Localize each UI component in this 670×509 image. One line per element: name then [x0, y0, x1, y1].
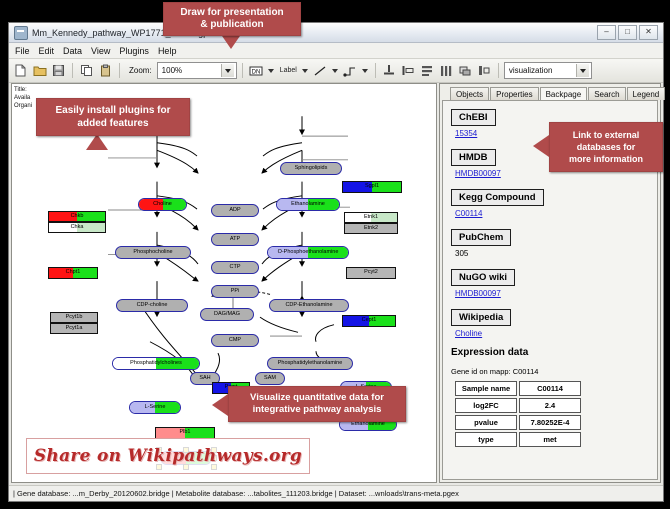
paste-icon[interactable] — [97, 62, 114, 79]
metabolite-node-phosphatidylcholine[interactable]: Phosphatidylcholines — [112, 357, 200, 370]
metabolite-node-sam[interactable]: SAM — [255, 372, 285, 385]
node-label: Choline — [153, 202, 172, 208]
maximize-button[interactable]: □ — [618, 25, 637, 40]
metabolite-node-adp[interactable]: ADP — [211, 204, 259, 217]
copy-icon[interactable] — [78, 62, 95, 79]
node-label: Chkb — [71, 214, 84, 220]
callout-plugins-line2: added features — [77, 117, 148, 130]
expression-table: Sample name C00114 log2FC 2.4 pvalue 7.8… — [453, 379, 583, 449]
callout-link: Link to external databases for more info… — [549, 122, 663, 172]
interaction-tool-icon[interactable] — [342, 62, 359, 79]
pathway-canvas[interactable]: Title: Availa Organi — [11, 83, 437, 483]
zoom-value: 100% — [160, 66, 182, 75]
metabolite-node-phosphatidylethanolamine[interactable]: Phosphatidylethanolamine — [267, 357, 353, 370]
node-label: CTP — [230, 265, 241, 271]
gene-node-pcyt1b[interactable]: Pcyt1b — [50, 312, 98, 323]
order-front-icon[interactable] — [476, 62, 493, 79]
gene-node-sgpl1[interactable]: Sgpl1 — [342, 181, 402, 193]
distribute-vertical-icon[interactable] — [419, 62, 436, 79]
toolbar: Zoom: 100% DN Label — [9, 59, 663, 83]
cell-key-log2fc: log2FC — [455, 398, 517, 413]
toolbar-separator-3 — [242, 63, 243, 78]
callout-link-line2: databases for — [577, 141, 636, 153]
node-label: CMP — [229, 338, 241, 344]
table-row: log2FC 2.4 — [455, 398, 581, 413]
toolbar-separator-4 — [375, 63, 376, 78]
application-window: Mm_Kennedy_pathway_WP1771_45176.gpml – □… — [8, 22, 664, 502]
callout-draw-line1: Draw for presentation — [180, 7, 283, 19]
node-label: Ethanolamine — [291, 202, 325, 208]
datanode-dropdown-icon[interactable] — [267, 63, 276, 79]
gene-node-etnk1[interactable]: Etnk1 — [344, 212, 398, 223]
toolbar-separator-1 — [72, 63, 73, 78]
db-name-kegg-compound: Kegg Compound — [451, 189, 544, 206]
callout-visualize-line2: integrative pathway analysis — [253, 404, 382, 416]
node-label: ATP — [230, 237, 240, 243]
callout-link-line1: Link to external — [573, 129, 640, 141]
screenshot-root: Mm_Kennedy_pathway_WP1771_45176.gpml – □… — [0, 0, 670, 509]
db-link-kegg-compound[interactable]: C00114 — [455, 209, 649, 218]
gene-node-etnk2[interactable]: Etnk2 — [344, 223, 398, 234]
expression-data-title: Expression data — [451, 347, 649, 358]
db-link-nugo-wiki[interactable]: HMDB00097 — [455, 289, 649, 298]
status-bar: | Gene database: ...m_Derby_20120602.bri… — [9, 485, 663, 501]
window-controls[interactable]: – □ ✕ — [597, 25, 660, 40]
db-name-hmdb: HMDB — [451, 149, 496, 166]
db-link-wikipedia[interactable]: Choline — [455, 329, 649, 338]
align-top-icon[interactable] — [381, 62, 398, 79]
tab-search[interactable]: Search — [588, 87, 625, 100]
metabolite-node-sphingolipids[interactable]: Sphingolipids — [280, 162, 342, 175]
new-file-icon[interactable] — [12, 62, 29, 79]
metabolite-node-ethanolamine[interactable]: Ethanolamine — [276, 198, 340, 211]
metabolite-node-choline_top[interactable]: Choline — [138, 198, 187, 211]
metabolite-node-cdpcholine[interactable]: CDP-choline — [116, 299, 188, 312]
cell-value-log2fc: 2.4 — [519, 398, 581, 413]
callout-plugins-arrow-icon — [86, 134, 108, 150]
gene-id-line: Gene id on mapp: C00114 — [451, 367, 649, 376]
callout-visualize-arrow-icon — [212, 394, 228, 416]
node-label: Etnk2 — [364, 226, 378, 232]
node-label: CDP-choline — [137, 303, 168, 309]
metabolite-node-cdpethanolamine[interactable]: CDP-Ethanolamine — [269, 299, 349, 312]
node-label: Cept1 — [362, 318, 377, 324]
menu-item-view[interactable]: View — [91, 46, 110, 56]
close-button[interactable]: ✕ — [639, 25, 658, 40]
order-back-icon[interactable] — [457, 62, 474, 79]
cell-key-pvalue: pvalue — [455, 415, 517, 430]
gene-node-cept1[interactable]: Cept1 — [342, 315, 396, 327]
node-label: CDP-Ethanolamine — [285, 303, 332, 309]
node-label: L-Serine — [145, 405, 166, 411]
visualization-chevron-down-icon[interactable] — [576, 64, 589, 77]
canvas-info-labels: Title: Availa Organi — [14, 86, 32, 110]
metabolite-node-ophosphoeth[interactable]: O-Phosphoethanolamine — [267, 246, 349, 259]
callout-plugins-line1: Easily install plugins for — [55, 104, 170, 117]
open-folder-icon[interactable] — [31, 62, 48, 79]
save-icon[interactable] — [50, 62, 67, 79]
label-tool-button[interactable]: Label — [278, 67, 299, 74]
metabolite-node-atp[interactable]: ATP — [211, 233, 259, 246]
menu-item-file[interactable]: File — [15, 46, 30, 56]
title-bar: Mm_Kennedy_pathway_WP1771_45176.gpml – □… — [9, 23, 663, 43]
node-label: Chka — [71, 225, 84, 231]
db-name-wikipedia: Wikipedia — [451, 309, 511, 326]
menu-item-data[interactable]: Data — [63, 46, 82, 56]
db-value-pubchem: 305 — [455, 249, 649, 258]
canvas-organism-label: Organi — [14, 102, 32, 110]
menu-item-help[interactable]: Help — [158, 46, 177, 56]
node-label: ADP — [229, 208, 240, 214]
callout-visualize-line1: Visualize quantitative data for — [250, 392, 384, 404]
gene-node-chkb[interactable]: Chkb — [48, 211, 106, 222]
node-label: SAH — [199, 376, 210, 382]
callout-plugins: Easily install plugins for added feature… — [36, 98, 190, 136]
line-tool-icon[interactable] — [312, 62, 329, 79]
align-left-icon[interactable] — [400, 62, 417, 79]
status-bar-text: | Gene database: ...m_Derby_20120602.bri… — [13, 489, 459, 498]
table-row: pvalue 7.80252E-4 — [455, 415, 581, 430]
metabolite-node-ctp[interactable]: CTP — [211, 261, 259, 274]
metabolite-node-phosphocholine[interactable]: Phosphocholine — [115, 246, 191, 259]
toolbar-separator-2 — [119, 63, 120, 78]
zoom-combobox[interactable]: 100% — [157, 62, 237, 79]
menu-item-plugins[interactable]: Plugins — [119, 46, 149, 56]
label-dropdown-icon[interactable] — [301, 63, 310, 79]
callout-draw-line2: & publication — [200, 19, 263, 31]
visualization-combobox[interactable]: visualization — [504, 62, 592, 79]
node-label: Pcyt2 — [364, 270, 378, 276]
node-label: SAM — [264, 376, 276, 382]
cell-key-type: type — [455, 432, 517, 447]
datanode-icon[interactable]: DN — [248, 62, 265, 79]
callout-share: Share on Wikipathways.org — [26, 438, 310, 474]
db-name-nugo-wiki: NuGO wiki — [451, 269, 515, 286]
node-label: Plb1 — [179, 430, 190, 436]
app-icon — [14, 26, 28, 40]
callout-link-line3: more information — [569, 153, 643, 165]
callout-visualize: Visualize quantitative data for integrat… — [228, 386, 406, 422]
node-label: Etnk1 — [364, 215, 378, 221]
distribute-horizontal-icon[interactable] — [438, 62, 455, 79]
interaction-dropdown-icon[interactable] — [361, 63, 370, 79]
tab-objects[interactable]: Objects — [450, 87, 489, 100]
node-label: Sphingolipids — [295, 166, 328, 172]
zoom-label: Zoom: — [129, 66, 152, 75]
chevron-down-icon[interactable] — [221, 64, 234, 77]
canvas-availability-label: Availa — [14, 94, 32, 102]
node-label: Chpt1 — [66, 270, 81, 276]
tab-backpage[interactable]: Backpage — [540, 87, 588, 101]
table-row: Sample name C00114 — [455, 381, 581, 396]
line-dropdown-icon[interactable] — [331, 63, 340, 79]
gene-node-pcyt2[interactable]: Pcyt2 — [346, 267, 396, 279]
node-label: Phosphatidylcholines — [130, 361, 182, 367]
db-name-pubchem: PubChem — [451, 229, 511, 246]
node-label: Sgpl1 — [365, 184, 379, 190]
svg-text:DN: DN — [252, 69, 261, 75]
toolbar-separator-5 — [498, 63, 499, 78]
gene-node-chka[interactable]: Chka — [48, 222, 106, 233]
node-label: Phosphocholine — [133, 250, 172, 256]
db-name-chebi: ChEBI — [451, 109, 496, 126]
node-label: Pcyt1a — [66, 326, 83, 332]
metabolite-node-lserine_left[interactable]: L-Serine — [129, 401, 181, 414]
cell-key-sample-name: Sample name — [455, 381, 517, 396]
side-panel-tabs: Objects Properties Backpage Search Legen… — [440, 84, 660, 100]
table-row: type met — [455, 432, 581, 447]
callout-share-text: Share on Wikipathways.org — [34, 446, 302, 466]
cell-value-sample-name: C00114 — [519, 381, 581, 396]
node-label: O-Phosphoethanolamine — [278, 250, 339, 256]
canvas-title-label: Title: — [14, 86, 32, 94]
callout-draw: Draw for presentation & publication — [163, 2, 301, 36]
node-label: DAG/MAG — [214, 312, 240, 318]
metabolite-node-dagmag[interactable]: DAG/MAG — [200, 308, 254, 321]
cell-value-type: met — [519, 432, 581, 447]
menu-bar: File Edit Data View Plugins Help — [9, 43, 663, 59]
metabolite-node-cmp[interactable]: CMP — [211, 334, 259, 347]
metabolite-node-ppi[interactable]: PPi — [211, 285, 259, 298]
callout-link-arrow-icon — [533, 135, 549, 157]
node-label: Phosphatidylethanolamine — [278, 361, 343, 367]
node-label: Pcyt1b — [66, 315, 83, 321]
minimize-button[interactable]: – — [597, 25, 616, 40]
tab-properties[interactable]: Properties — [490, 87, 538, 100]
gene-node-chpt1[interactable]: Chpt1 — [48, 267, 98, 279]
tab-legend[interactable]: Legend — [627, 87, 666, 100]
cell-value-pvalue: 7.80252E-4 — [519, 415, 581, 430]
visualization-value: visualization — [507, 66, 553, 75]
menu-item-edit[interactable]: Edit — [39, 46, 55, 56]
gene-node-pcyt1a[interactable]: Pcyt1a — [50, 323, 98, 334]
node-label: PPi — [231, 289, 240, 295]
node-label: Ethanolamine — [351, 422, 385, 428]
